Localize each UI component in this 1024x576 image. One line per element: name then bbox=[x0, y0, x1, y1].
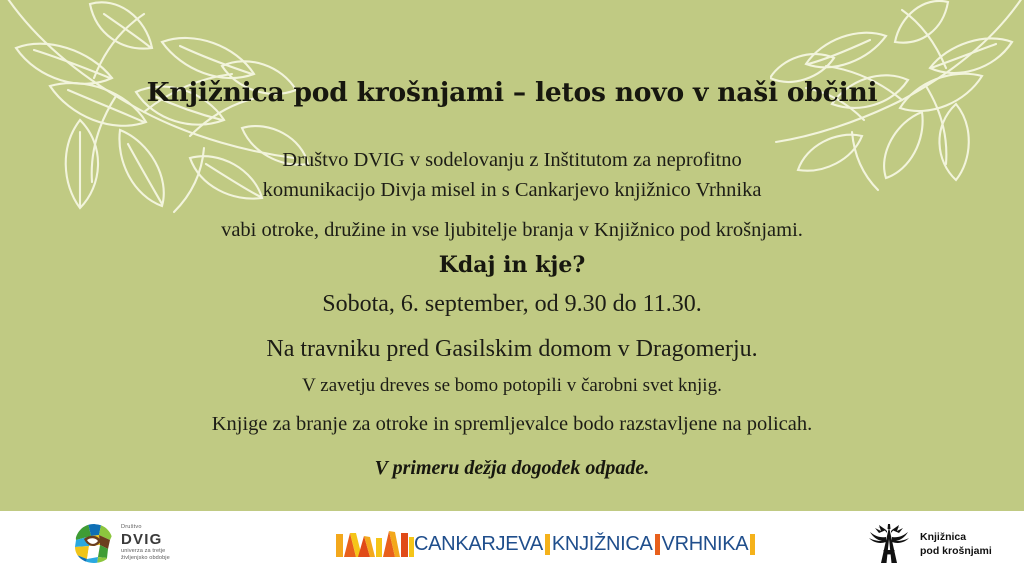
poster-canvas: Knjižnica pod krošnjami – letos novo v n… bbox=[0, 0, 1024, 576]
poster-location: Na travniku pred Gasilskim domom v Drago… bbox=[0, 336, 1024, 363]
logo-dvig: Društvo DVIG univerza za tretje življenj… bbox=[74, 523, 170, 564]
cankarjeva-word-3: VRHNIKA bbox=[662, 534, 749, 554]
cankarjeva-separator-3 bbox=[750, 534, 755, 555]
poster-green-stage: Knjižnica pod krošnjami – letos novo v n… bbox=[0, 0, 1024, 511]
cankarjeva-books-icon bbox=[336, 531, 414, 557]
poster-rain-notice: V primeru dežja dogodek odpade. bbox=[0, 457, 1024, 480]
cankarjeva-separator-2 bbox=[655, 534, 660, 555]
cankarjeva-word-2: KNJIŽNICA bbox=[552, 534, 653, 554]
tree-letter-a-icon bbox=[866, 523, 912, 565]
poster-detail-line-2: Knjige za branje za otroke in spremljeva… bbox=[0, 413, 1024, 436]
poster-title: Knjižnica pod krošnjami – letos novo v n… bbox=[0, 78, 1024, 107]
dvig-name: DVIG bbox=[121, 531, 170, 548]
kpk-line-1: Knjižnica bbox=[920, 530, 992, 544]
logo-knjiznica-pod-krosnjami: Knjižnica pod krošnjami bbox=[866, 523, 992, 565]
knjiznica-pod-krosnjami-wordmark: Knjižnica pod krošnjami bbox=[920, 530, 992, 558]
poster-invitation: vabi otroke, družine in vse ljubitelje b… bbox=[0, 217, 1024, 244]
poster-when-where-heading: Kdaj in kje? bbox=[0, 252, 1024, 278]
cankarjeva-separator-1 bbox=[545, 534, 550, 555]
poster-detail-line-1: V zavetju dreves se bomo potopili v čaro… bbox=[0, 375, 1024, 397]
cankarjeva-word-1: CANKARJEVA bbox=[414, 534, 543, 554]
poster-footer: Društvo DVIG univerza za tretje življenj… bbox=[0, 511, 1024, 576]
kpk-line-2: pod krošnjami bbox=[920, 544, 992, 558]
poster-date-time: Sobota, 6. september, od 9.30 do 11.30. bbox=[0, 291, 1024, 318]
dvig-mosaic-icon bbox=[74, 523, 114, 564]
dvig-wordmark: Društvo DVIG univerza za tretje življenj… bbox=[121, 525, 170, 563]
poster-text-content: Knjižnica pod krošnjami – letos novo v n… bbox=[0, 0, 1024, 511]
logo-cankarjeva-knjiznica-vrhnika: CANKARJEVA KNJIŽNICA VRHNIKA bbox=[336, 531, 757, 557]
poster-intro-line-1: Društvo DVIG v sodelovanju z Inštitutom … bbox=[162, 146, 862, 176]
dvig-subtitle-line-2: življenjsko obdobje bbox=[121, 555, 170, 562]
poster-intro: Društvo DVIG v sodelovanju z Inštitutom … bbox=[162, 146, 862, 205]
dvig-subtitle-line-1: univerza za tretje bbox=[121, 548, 170, 555]
poster-intro-line-2: komunikacijo Divja misel in s Cankarjevo… bbox=[162, 176, 862, 206]
